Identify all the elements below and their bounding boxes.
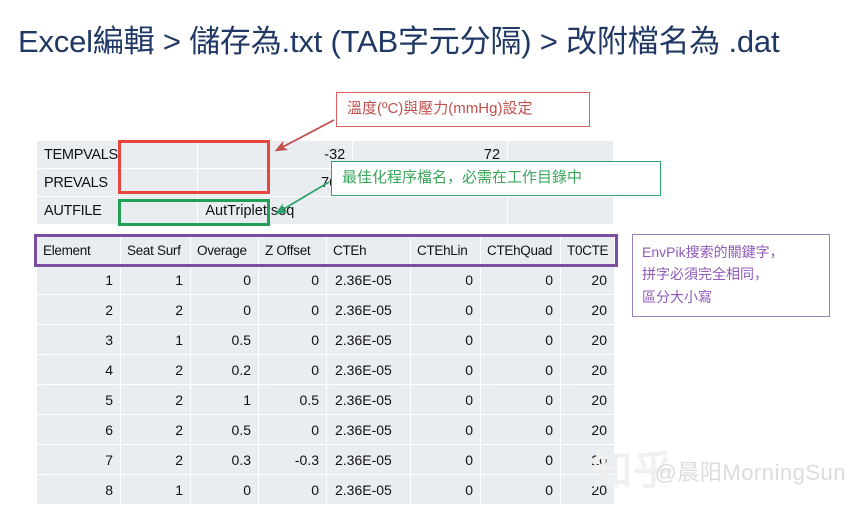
element-data-body: 11002.36E-05002022002.36E-050020310.502.… xyxy=(37,265,615,505)
table-row[interactable]: 81002.36E-050020 xyxy=(37,475,615,505)
table-cell[interactable]: 0 xyxy=(411,325,481,355)
table-cell[interactable]: 0 xyxy=(411,355,481,385)
param-label-autfile: AUTFILE xyxy=(37,197,198,225)
table-cell[interactable]: 0 xyxy=(191,295,259,325)
table-row[interactable]: AUTFILE AutTriplet.seq xyxy=(37,197,614,225)
table-cell[interactable]: 20 xyxy=(561,385,615,415)
table-cell[interactable]: 2.36E-05 xyxy=(327,325,411,355)
table-cell[interactable]: 0 xyxy=(411,295,481,325)
table-cell[interactable]: 2.36E-05 xyxy=(327,445,411,475)
column-header-seat-surf[interactable]: Seat Surf xyxy=(121,237,191,265)
table-cell[interactable]: -0.3 xyxy=(259,445,327,475)
table-row[interactable]: 310.502.36E-050020 xyxy=(37,325,615,355)
page-title: Excel編輯 > 儲存為.txt (TAB字元分隔) > 改附檔名為 .dat xyxy=(18,22,818,62)
element-data-table: Element Seat Surf Overage Z Offset CTEh … xyxy=(36,236,615,505)
table-cell[interactable]: 0.5 xyxy=(191,415,259,445)
table-cell[interactable]: 0 xyxy=(411,385,481,415)
table-cell[interactable]: 0 xyxy=(259,325,327,355)
table-cell[interactable]: 20 xyxy=(561,295,615,325)
table-cell[interactable]: 2.36E-05 xyxy=(327,475,411,505)
column-header-cteh[interactable]: CTEh xyxy=(327,237,411,265)
table-cell[interactable]: 7 xyxy=(37,445,121,475)
table-cell[interactable]: 0 xyxy=(481,415,561,445)
column-header-element[interactable]: Element xyxy=(37,237,121,265)
table-cell[interactable]: 0 xyxy=(481,265,561,295)
table-cell[interactable]: 0.5 xyxy=(259,385,327,415)
table-cell[interactable]: 0.3 xyxy=(191,445,259,475)
callout-envpik-keyword: EnvPik搜索的關鍵字， 拼字必須完全相同， 區分大小寫 xyxy=(632,234,830,317)
table-row[interactable]: 11002.36E-050020 xyxy=(37,265,615,295)
column-header-overage[interactable]: Overage xyxy=(191,237,259,265)
table-cell[interactable]: 0.2 xyxy=(191,355,259,385)
table-cell[interactable]: 0 xyxy=(481,325,561,355)
table-cell[interactable]: 8 xyxy=(37,475,121,505)
table-cell[interactable]: 5 xyxy=(37,385,121,415)
table-cell[interactable]: 0 xyxy=(481,355,561,385)
table-cell[interactable]: 1 xyxy=(37,265,121,295)
table-row[interactable]: 720.3-0.32.36E-050020 xyxy=(37,445,615,475)
column-header-t0cte[interactable]: T0CTE xyxy=(561,237,615,265)
table-row[interactable]: 5210.52.36E-050020 xyxy=(37,385,615,415)
table-row[interactable]: 620.502.36E-050020 xyxy=(37,415,615,445)
table-cell[interactable]: 2.36E-05 xyxy=(327,265,411,295)
table-cell[interactable]: 0 xyxy=(411,445,481,475)
param-tempvals-value-1[interactable]: -32 xyxy=(198,141,353,169)
table-cell[interactable]: 2.36E-05 xyxy=(327,355,411,385)
param-prevals-value-1[interactable]: 760 xyxy=(198,169,353,197)
table-cell[interactable]: 0 xyxy=(481,385,561,415)
table-cell[interactable]: 2.36E-05 xyxy=(327,415,411,445)
param-label-prevals: PREVALS xyxy=(37,169,198,197)
table-cell[interactable]: 0 xyxy=(411,265,481,295)
table-cell[interactable]: 0 xyxy=(259,355,327,385)
column-header-z-offset[interactable]: Z Offset xyxy=(259,237,327,265)
table-cell[interactable]: 0 xyxy=(259,295,327,325)
table-cell[interactable]: 0 xyxy=(411,475,481,505)
table-cell[interactable]: 2 xyxy=(121,445,191,475)
table-cell[interactable]: 2 xyxy=(121,355,191,385)
table-cell[interactable]: 1 xyxy=(121,265,191,295)
table-cell[interactable]: 2 xyxy=(121,295,191,325)
table-row[interactable]: 22002.36E-050020 xyxy=(37,295,615,325)
table-cell[interactable]: 0 xyxy=(259,415,327,445)
column-header-ctehquad[interactable]: CTEhQuad xyxy=(481,237,561,265)
table-cell[interactable]: 2.36E-05 xyxy=(327,385,411,415)
callout-autfile-note: 最佳化程序檔名，必需在工作目錄中 xyxy=(331,161,661,196)
table-cell[interactable]: 2 xyxy=(121,385,191,415)
table-cell[interactable]: 0 xyxy=(411,415,481,445)
table-cell[interactable]: 20 xyxy=(561,265,615,295)
table-cell[interactable]: 20 xyxy=(561,325,615,355)
table-cell[interactable]: 1 xyxy=(121,325,191,355)
table-cell[interactable]: 0.5 xyxy=(191,325,259,355)
table-cell[interactable]: 0 xyxy=(191,265,259,295)
table-cell[interactable]: 0 xyxy=(191,475,259,505)
table-cell[interactable]: 4 xyxy=(37,355,121,385)
param-label-tempvals: TEMPVALS xyxy=(37,141,198,169)
param-autfile-empty-cell[interactable] xyxy=(508,197,614,225)
table-cell[interactable]: 2 xyxy=(37,295,121,325)
table-row[interactable]: 420.202.36E-050020 xyxy=(37,355,615,385)
table-cell[interactable]: 0 xyxy=(259,265,327,295)
table-cell[interactable]: 6 xyxy=(37,415,121,445)
table-cell[interactable]: 0 xyxy=(481,475,561,505)
table-cell[interactable]: 2 xyxy=(121,415,191,445)
table-cell[interactable]: 1 xyxy=(191,385,259,415)
table-cell[interactable]: 1 xyxy=(121,475,191,505)
table-cell[interactable]: 0 xyxy=(481,445,561,475)
table-cell[interactable]: 0 xyxy=(259,475,327,505)
table-header-row: Element Seat Surf Overage Z Offset CTEh … xyxy=(37,237,615,265)
table-cell[interactable]: 2.36E-05 xyxy=(327,295,411,325)
table-cell[interactable]: 3 xyxy=(37,325,121,355)
table-cell[interactable]: 20 xyxy=(561,355,615,385)
column-header-ctehlin[interactable]: CTEhLin xyxy=(411,237,481,265)
watermark-author: @晨阳MorningSun xyxy=(655,455,846,487)
callout-temperature-pressure: 溫度(ºC)與壓力(mmHg)設定 xyxy=(336,92,590,127)
param-autfile-value[interactable]: AutTriplet.seq xyxy=(198,197,508,225)
table-cell[interactable]: 0 xyxy=(481,295,561,325)
element-data-table-wrapper: Element Seat Surf Overage Z Offset CTEh … xyxy=(36,236,614,505)
